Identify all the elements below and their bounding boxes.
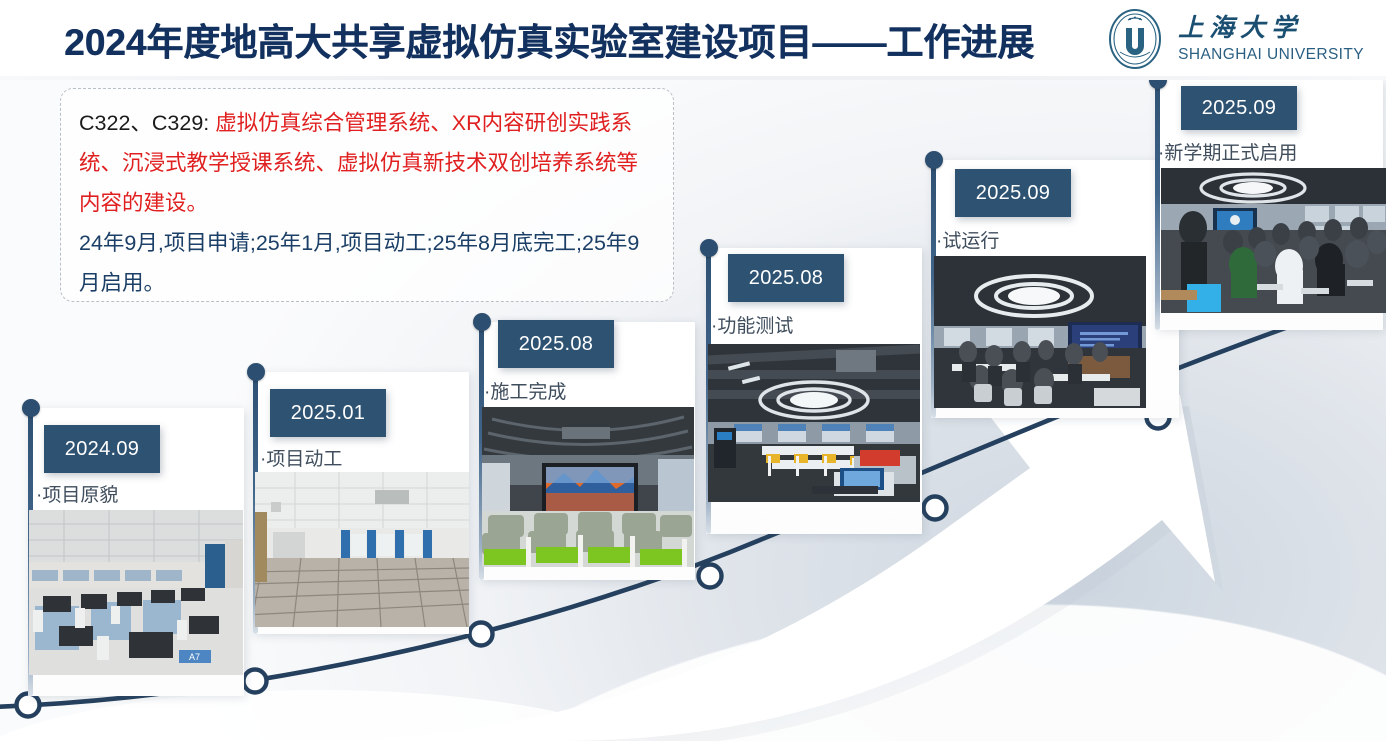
page-title: 2024年度地高大共享虚拟仿真实验室建设项目——工作进展 [64,12,1034,66]
milestone-5-caption: ·试运行 [936,226,999,253]
background-swoosh [316,541,1386,741]
milestone-1-node-dot [22,399,40,417]
milestone-4-node-dot [700,239,718,257]
milestone-1-caption: ·项目原貌 [36,480,118,507]
photo-original-computer-lab: A7 [29,510,243,675]
photo-trial-run-meeting [934,256,1146,408]
photo-construction-start-empty-room [255,472,469,627]
milestone-3-caption: ·施工完成 [484,377,566,404]
shanghai-university-emblem-icon [1104,8,1166,70]
milestone-5-node-dot [925,151,943,169]
description-paragraph-main: C322、C329: 虚拟仿真综合管理系统、XR内容研创实践系统、沉浸式教学授课… [79,103,655,223]
milestone-3-node-dot [473,313,491,331]
milestone-6-caption: ·新学期正式启用 [1158,138,1297,165]
milestone-2-caption: ·项目动工 [260,444,342,471]
logo-text-cn: 上海大学 [1178,16,1302,41]
background-swoosh-secondary [0,690,700,741]
project-description-box: C322、C329: 虚拟仿真综合管理系统、XR内容研创实践系统、沉浸式教学授课… [60,88,674,302]
slide-canvas: 2024年度地高大共享虚拟仿真实验室建设项目——工作进展 上海大学 SHANGH… [0,0,1386,741]
university-logo: 上海大学 SHANGHAI UNIVERSITY [1104,8,1364,70]
photo-function-testing-lab [708,344,920,502]
slide-header: 2024年度地高大共享虚拟仿真实验室建设项目——工作进展 上海大学 SHANGH… [0,0,1386,80]
svg-text:A7: A7 [189,652,200,662]
milestone-5-date-chip: 2025.09 [955,169,1071,217]
milestone-6-stem [1155,80,1160,330]
description-paragraph-schedule: 24年9月,项目申请;25年1月,项目动工;25年8月底完工;25年9月启用。 [79,223,655,303]
description-lead: C322、C329: [79,111,209,135]
milestone-4-date-chip: 2025.08 [728,254,844,302]
milestone-2-node-dot [247,363,265,381]
milestone-4-caption: ·功能测试 [711,311,793,338]
photo-new-semester-launch-classroom [1161,168,1386,313]
milestone-3-date-chip: 2025.08 [498,320,614,368]
milestone-6-date-chip: 2025.09 [1181,86,1297,130]
photo-construction-complete-lecture-hall [482,407,694,567]
logo-text-en: SHANGHAI UNIVERSITY [1178,47,1364,63]
milestone-2-date-chip: 2025.01 [270,389,386,437]
milestone-1-date-chip: 2024.09 [44,425,160,473]
